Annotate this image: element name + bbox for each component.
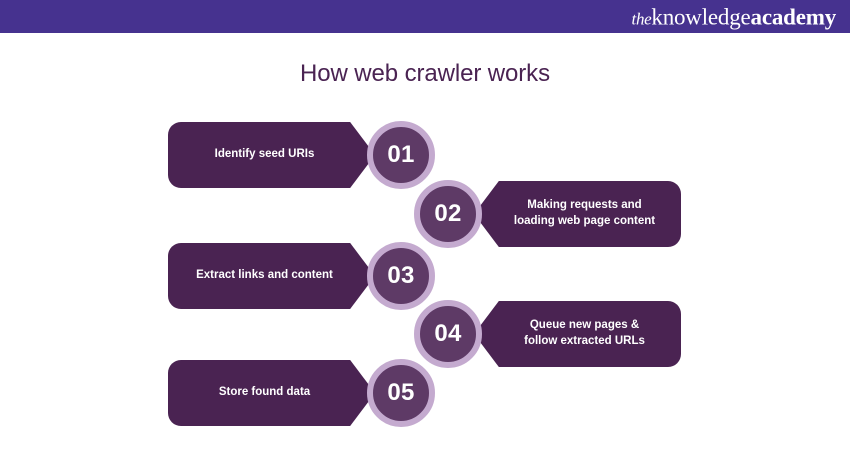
flow-step-01-circle: 01 (367, 121, 435, 189)
flow-step-04: Queue new pages & follow extracted URLs … (414, 301, 681, 367)
flow-step-01-label: Identify seed URIs (203, 147, 327, 163)
flow-step-04-circle: 04 (414, 300, 482, 368)
flow-step-03-label: Extract links and content (184, 268, 345, 284)
flow-step-05: Store found data 05 (168, 360, 435, 426)
flow-step-04-label: Queue new pages & follow extracted URLs (512, 318, 657, 350)
flow-step-02: Making requests and loading web page con… (414, 181, 681, 247)
flow-step-03: Extract links and content 03 (168, 243, 435, 309)
flow-step-05-panel: Store found data (168, 360, 375, 426)
flow-step-02-circle: 02 (414, 180, 482, 248)
flow-step-01-panel: Identify seed URIs (168, 122, 375, 188)
flow-step-05-label: Store found data (207, 385, 322, 401)
flow-step-03-circle: 03 (367, 242, 435, 310)
flow-step-02-number: 02 (434, 202, 461, 226)
flow-step-03-number: 03 (387, 264, 414, 288)
flow-step-05-number: 05 (387, 381, 414, 405)
flow-step-05-circle: 05 (367, 359, 435, 427)
flow-step-01: Identify seed URIs 01 (168, 122, 435, 188)
flow-step-02-label: Making requests and loading web page con… (502, 198, 667, 230)
flow-step-02-panel: Making requests and loading web page con… (474, 181, 681, 247)
flow-step-04-panel: Queue new pages & follow extracted URLs (474, 301, 681, 367)
web-crawler-flow-diagram: Identify seed URIs 01 Making requests an… (0, 0, 850, 450)
flow-step-04-number: 04 (434, 322, 461, 346)
flow-step-03-panel: Extract links and content (168, 243, 375, 309)
flow-step-01-number: 01 (387, 143, 414, 167)
